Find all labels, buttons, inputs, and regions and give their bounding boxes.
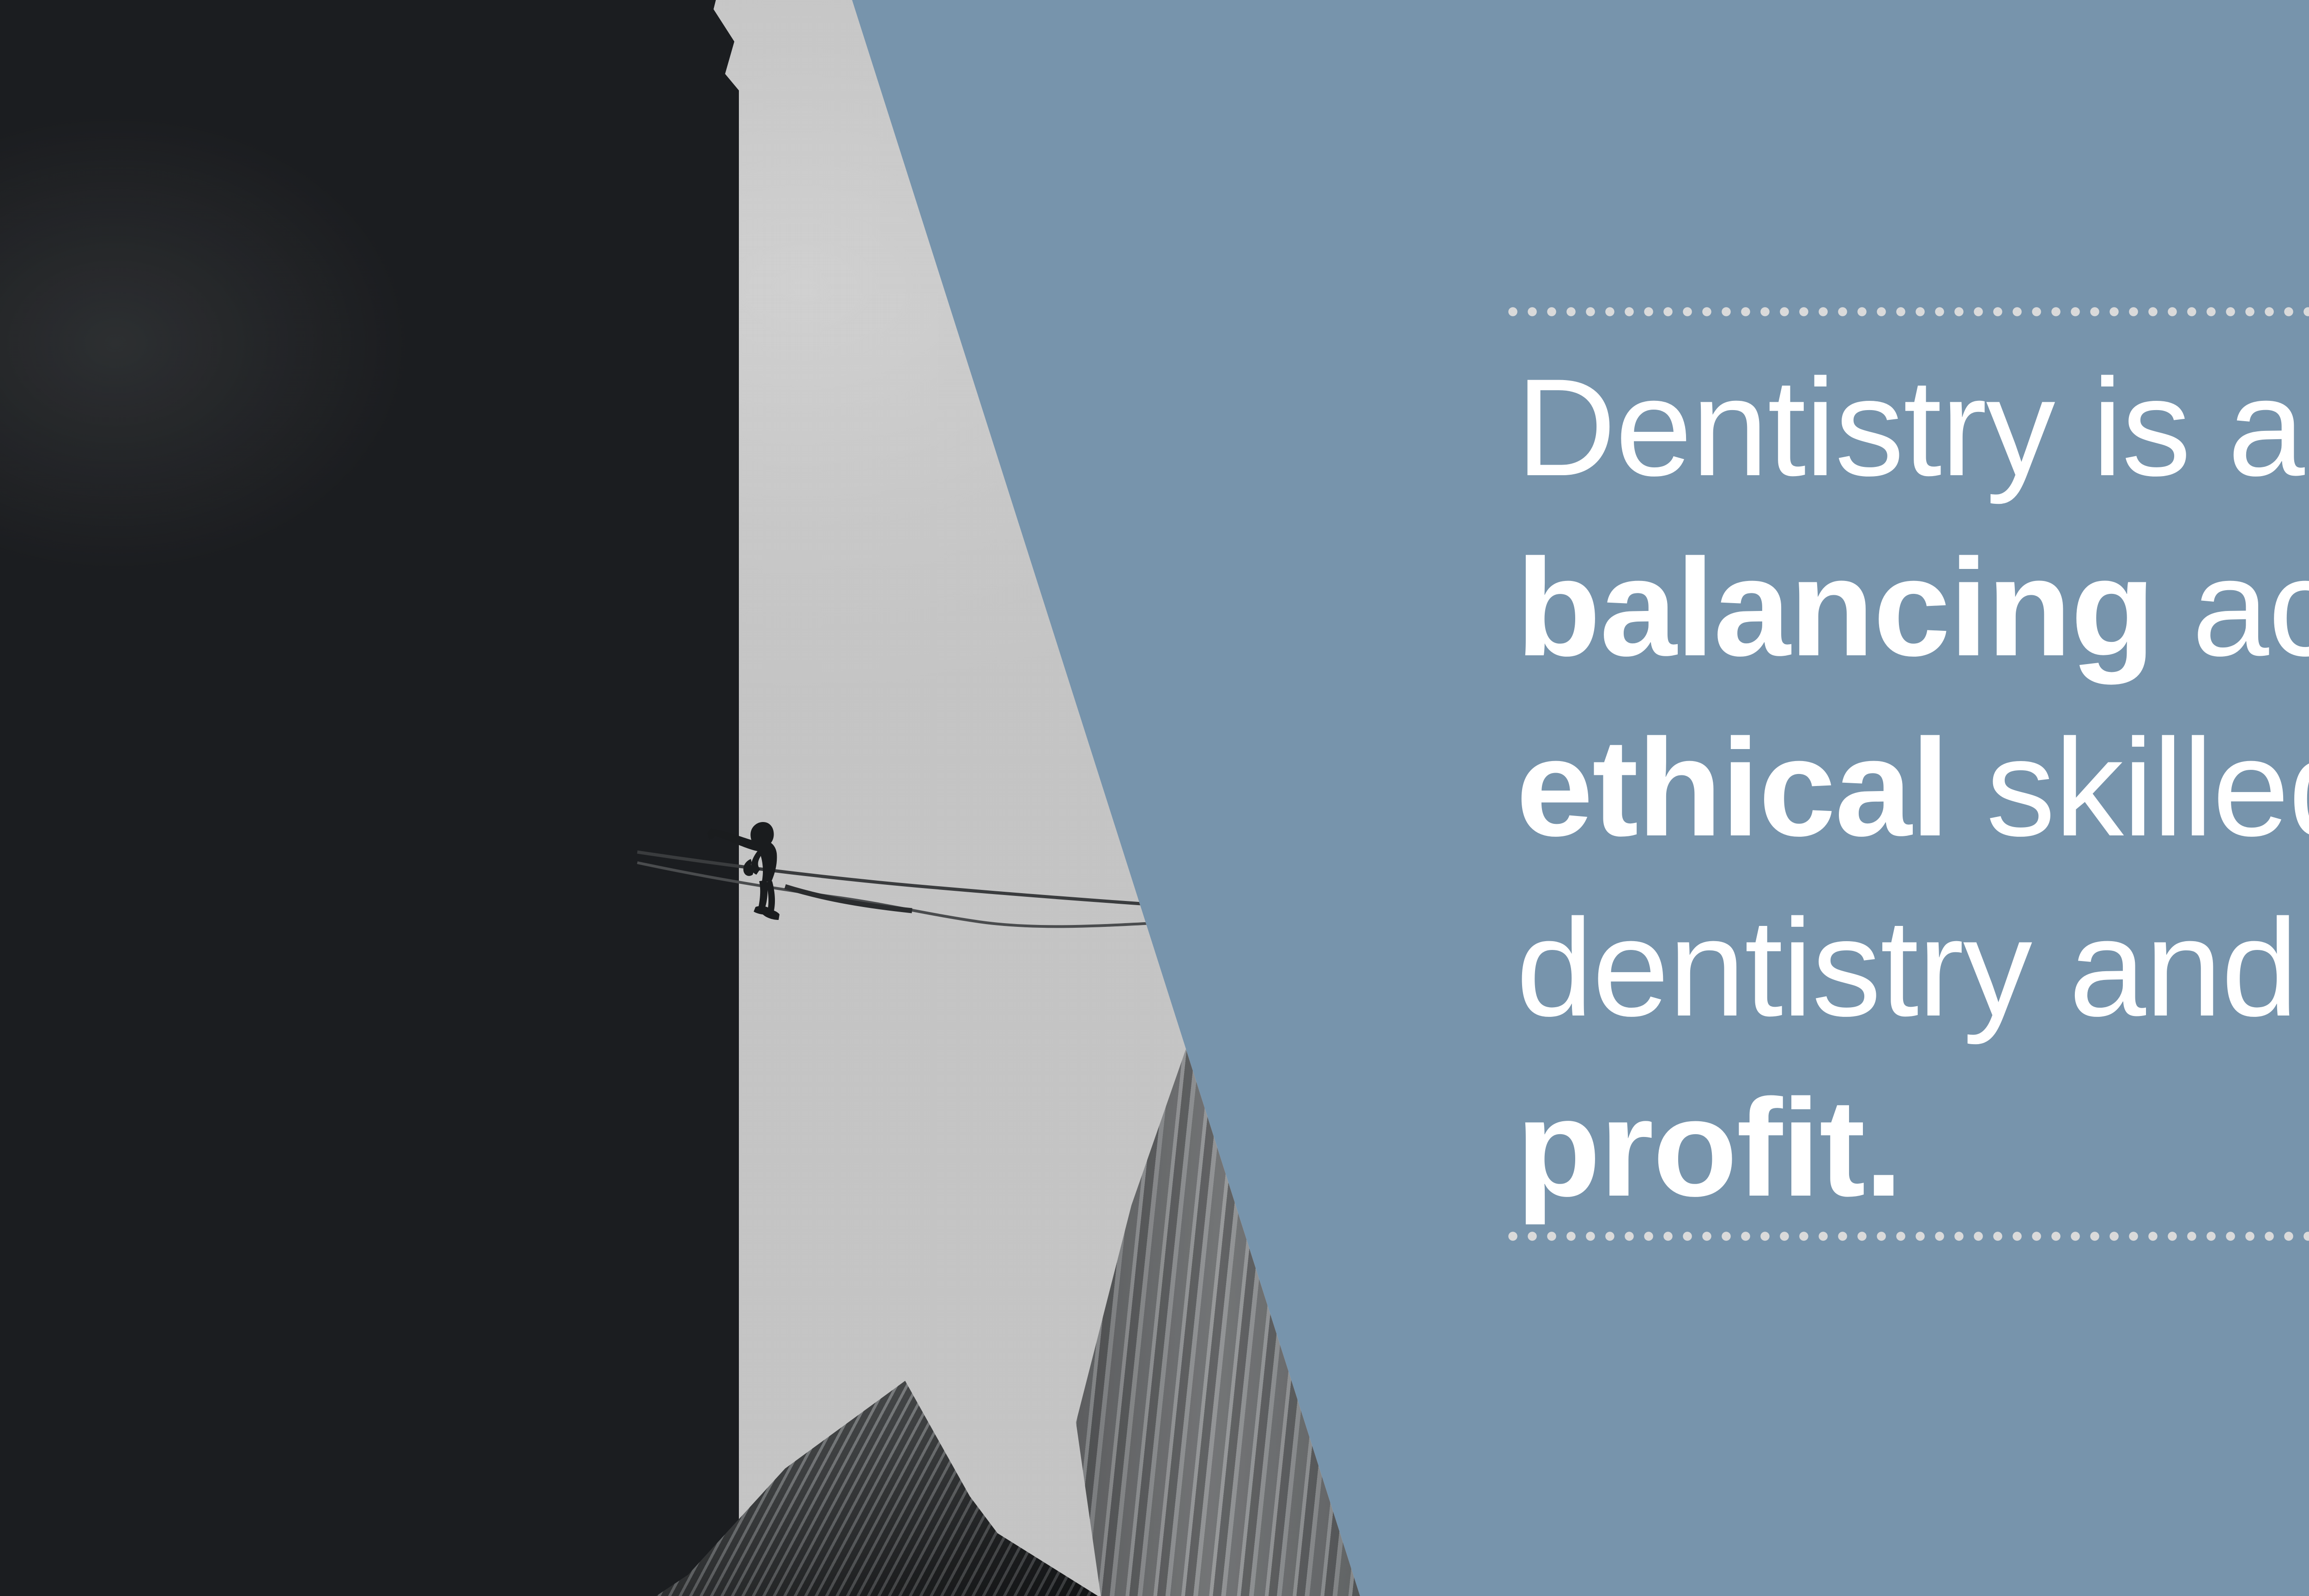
slide-canvas: Dentistry is a tight rope balancing act …	[0, 0, 2309, 1596]
quote-emphasis-balancing: balancing	[1516, 530, 2154, 685]
pull-quote-text: Dentistry is a tight rope balancing act …	[1516, 337, 2309, 1238]
highliner-silhouette	[707, 813, 813, 928]
quote-line-1: Dentistry is a tight rope	[1516, 350, 2309, 505]
quote-panel: Dentistry is a tight rope balancing act …	[1508, 0, 2309, 1596]
slackline-rigging	[0, 0, 1385, 1596]
quote-line-2: act between	[2154, 530, 2309, 685]
dotted-divider-top-icon	[1508, 307, 2309, 317]
quote-emphasis-ethical: ethical	[1516, 710, 1948, 865]
highline-photograph	[0, 0, 1385, 1596]
quote-emphasis-profit: profit.	[1516, 1070, 1902, 1225]
dotted-divider-bottom-icon	[1508, 1231, 2309, 1241]
